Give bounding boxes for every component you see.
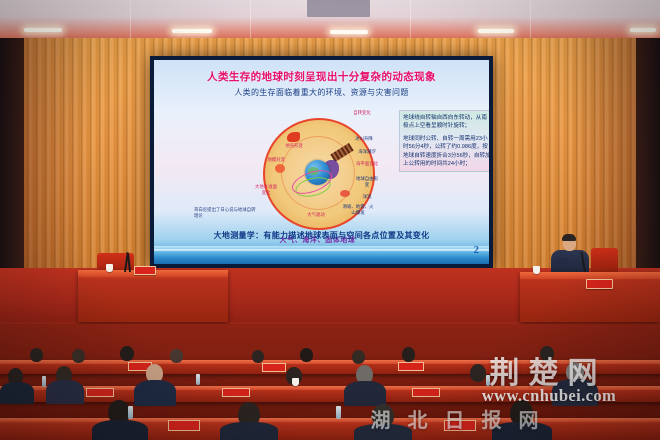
ceiling-light	[478, 29, 514, 33]
audience-shoulders	[344, 381, 386, 406]
mantle-wedge-icon	[340, 190, 350, 197]
speaker-hair	[562, 234, 576, 241]
audience-head	[120, 346, 134, 361]
audience-shoulders	[92, 420, 148, 440]
watermark-url: www.cnhubei.com	[438, 386, 660, 406]
ceiling-light	[172, 29, 212, 33]
diagram-label: 洋流	[358, 194, 376, 200]
diagram-label: 大气驱动	[305, 212, 327, 218]
audience-nameplate	[168, 420, 200, 431]
audience-head	[402, 347, 415, 362]
audience-head	[352, 350, 365, 364]
ceiling-light	[630, 28, 656, 32]
diagram-label: 冰川升降	[353, 136, 375, 142]
diagram-label: 地幔对流	[265, 157, 287, 163]
audience-head	[170, 349, 183, 363]
water-cup	[106, 264, 113, 272]
audience-head	[30, 348, 43, 362]
water-bottle	[128, 406, 133, 419]
audience-head	[252, 350, 264, 363]
water-cup	[292, 378, 299, 386]
audience-nameplate	[262, 363, 286, 372]
audience-shoulders	[46, 380, 84, 404]
ceiling	[0, 0, 660, 42]
diagram-label: 自转变化	[349, 110, 375, 116]
projection-screen: 人类生存的地球时刻呈现出十分复杂的动态现象 人类的生存面临着重大的环境、资源与灾…	[150, 56, 493, 268]
chair-speaker	[591, 248, 618, 274]
diagram-label: 大地水准面变化	[253, 184, 279, 196]
audience-head	[72, 349, 85, 363]
water-cup	[533, 266, 540, 274]
audience-head	[300, 348, 313, 362]
diagram-label: 地球自由形变	[356, 176, 378, 188]
conference-hall-photo: 人类生存的地球时刻呈现出十分复杂的动态现象 人类的生存面临着重大的环境、资源与灾…	[0, 0, 660, 440]
slide-bottom-line: 大地测量学：有能力描述地球表面与空间各点位置及其变化	[154, 230, 489, 241]
ceiling-vent-icon	[307, 0, 370, 17]
ceiling-light	[24, 28, 62, 32]
watermark-site-name: 湖北日报网	[266, 404, 660, 433]
nameplate-left	[134, 266, 156, 275]
slide-page-number: 2	[474, 244, 480, 256]
audience-nameplate	[222, 388, 250, 397]
audience-shoulders	[0, 382, 34, 404]
earth-systems-diagram: 自转变化 冰川升降 海洋潮汐 海平面变化 地球自由形变 洋流 滑坡、地震、火山爆…	[257, 112, 377, 232]
info-paragraph: 地球同时公转、自转一周需用23小时56分4秒，公转了约0.986度，按地球自转速…	[403, 135, 489, 169]
wall-right-edge	[636, 38, 660, 270]
presentation-slide: 人类生存的地球时刻呈现出十分复杂的动态现象 人类的生存面临着重大的环境、资源与灾…	[154, 60, 489, 264]
water-bottle	[196, 374, 200, 385]
water-bottle	[42, 376, 46, 387]
wall-left-edge	[0, 38, 24, 270]
slide-info-panel: 地球绕自转轴自西向东转动，从南极点上空看呈顺时针旋转； 地球同时公转、自转一周需…	[399, 110, 489, 172]
diagram-label: 海平面变化	[356, 161, 378, 167]
slide-title: 人类生存的地球时刻呈现出十分复杂的动态现象	[154, 69, 489, 84]
slide-subtitle: 人类的生存面临着重大的环境、资源与灾害问题	[154, 87, 489, 98]
audience-nameplate	[398, 362, 424, 371]
audience-nameplate	[86, 388, 114, 397]
ceiling-light	[330, 30, 368, 34]
audience-shoulders	[134, 380, 176, 406]
audience-nameplate	[412, 388, 440, 397]
diagram-label: 地壳形变	[283, 143, 305, 149]
copernicus-note: 哥白尼提出了日心说与地球自转理论	[194, 207, 256, 220]
diagram-label: 滑坡、地震、火山爆发	[341, 204, 375, 216]
nameplate-speaker	[586, 279, 613, 289]
diagram-label: 海洋潮汐	[355, 149, 379, 155]
desk-left	[78, 270, 228, 322]
info-paragraph: 地球绕自转轴自西向东转动，从南极点上空看呈顺时针旋转；	[403, 114, 489, 131]
mantle-wedge-icon	[275, 164, 285, 173]
slide-sea-band	[154, 246, 489, 264]
mantle-wedge-icon	[287, 132, 300, 142]
